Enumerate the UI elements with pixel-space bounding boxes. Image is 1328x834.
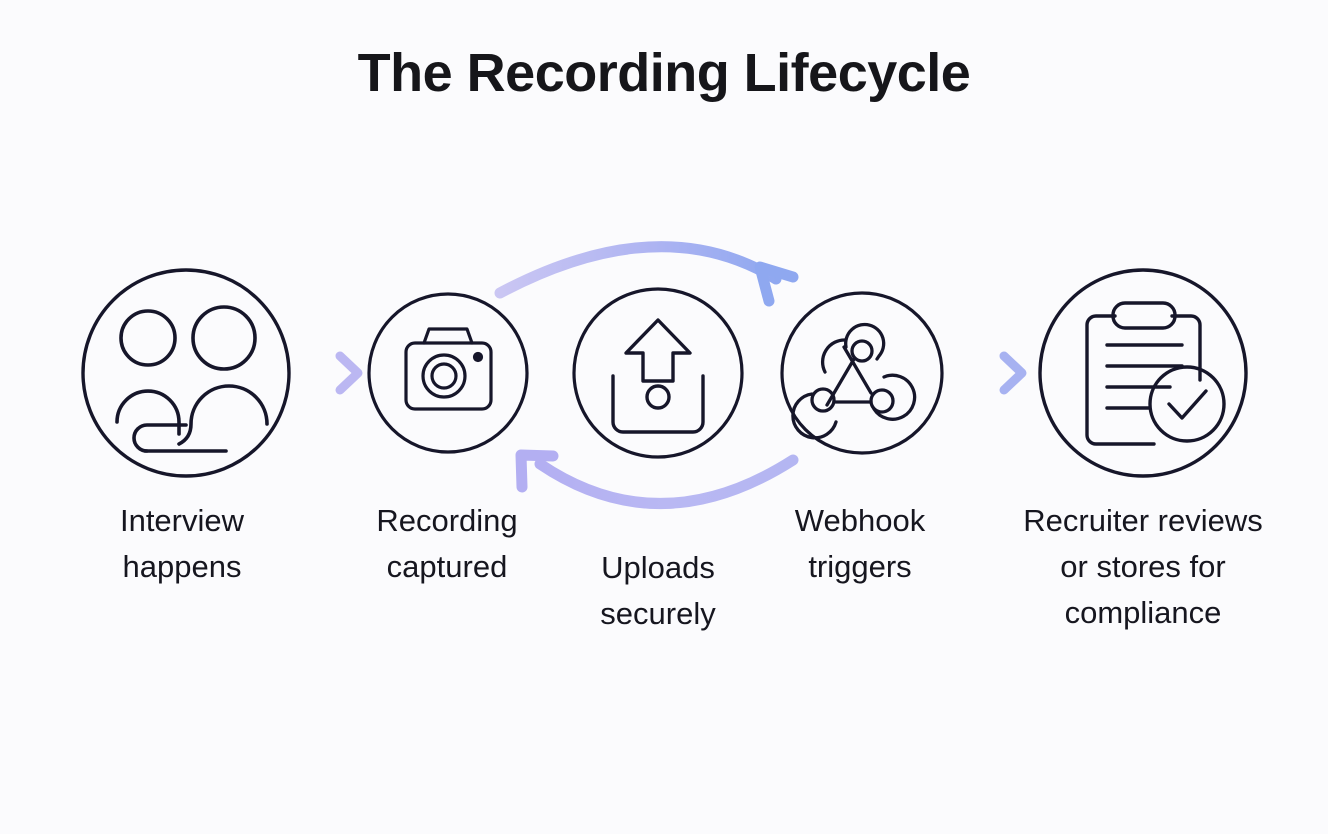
webhook-icon xyxy=(793,325,915,438)
step-label-interview: Interview happens xyxy=(62,498,302,590)
two-people-icon xyxy=(117,307,267,451)
step-icon-recruiter xyxy=(1040,270,1246,476)
connector-webhook-to-recording xyxy=(521,455,793,504)
upload-icon xyxy=(613,320,703,432)
connector-webhook-to-recruiter xyxy=(963,356,1022,390)
clipboard-check-icon xyxy=(1087,303,1224,444)
step-label-webhook: Webhook triggers xyxy=(750,498,970,590)
icon-circle-outline xyxy=(782,293,942,453)
camera-icon xyxy=(406,329,491,409)
step-label-recruiter: Recruiter reviews or stores for complian… xyxy=(990,498,1296,636)
step-label-recording: Recording captured xyxy=(330,498,564,590)
icon-circle-outline xyxy=(83,270,289,476)
step-icon-recording xyxy=(369,294,527,452)
step-icon-webhook xyxy=(782,293,942,453)
step-label-uploads: Uploads securely xyxy=(538,545,778,637)
icon-circle-outline xyxy=(369,294,527,452)
connector-recording-to-webhook xyxy=(500,247,793,301)
lifecycle-flow-graphic xyxy=(0,0,1328,834)
connector-interview-to-recording xyxy=(300,356,358,390)
step-icon-interview xyxy=(83,270,289,476)
recording-lifecycle-diagram: The Recording Lifecycle xyxy=(0,0,1328,834)
step-icon-uploads xyxy=(574,289,742,457)
